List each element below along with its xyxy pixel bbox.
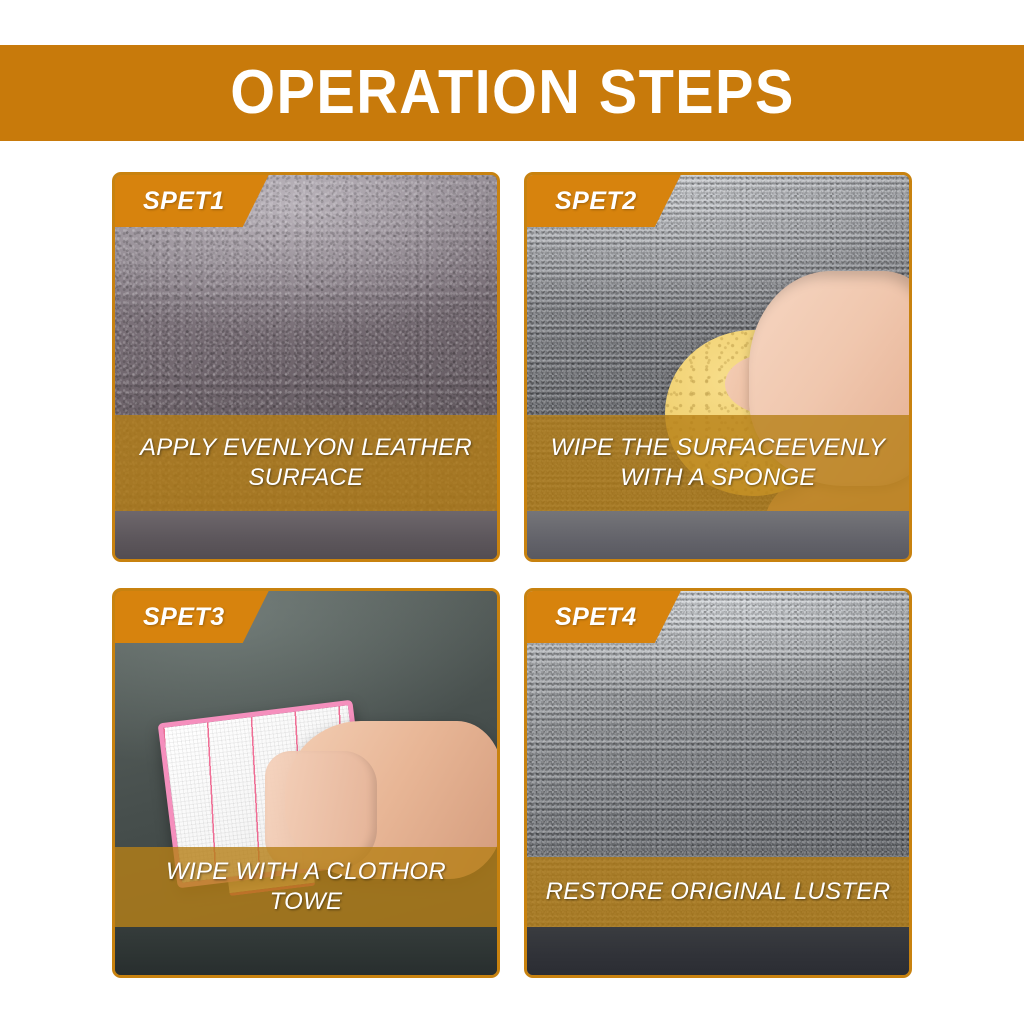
caption-band-1: APPLY EVENLYON LEATHER SURFACE: [115, 415, 497, 511]
step-badge-4: SPET4: [527, 591, 681, 643]
step-card-1: SPET1 APPLY EVENLYON LEATHER SURFACE: [112, 172, 500, 562]
step-card-4: SPET4 RESTORE ORIGINAL LUSTER: [524, 588, 912, 978]
step-badge-label: SPET4: [555, 603, 637, 632]
photo-bottom-strip: [115, 511, 497, 559]
step-badge-label: SPET2: [555, 187, 637, 216]
page-title: OPERATION STEPS: [230, 62, 795, 124]
step-card-2: SPET2 WIPE THE SURFACEEVENLY WITH A SPON…: [524, 172, 912, 562]
step-badge-3: SPET3: [115, 591, 269, 643]
operation-steps-infographic: OPERATION STEPS SPET1 APPLY EVENLYON LEA…: [0, 0, 1024, 1024]
photo-bottom-strip: [115, 927, 497, 975]
caption-text: WIPE WITH A CLOTHOR TOWE: [129, 857, 483, 917]
step-card-3: SPET3 WIPE WITH A CLOTHOR TOWE: [112, 588, 500, 978]
step-badge-label: SPET3: [143, 603, 225, 632]
step-badge-1: SPET1: [115, 175, 269, 227]
caption-band-4: RESTORE ORIGINAL LUSTER: [527, 857, 909, 927]
caption-band-3: WIPE WITH A CLOTHOR TOWE: [115, 847, 497, 927]
caption-text: APPLY EVENLYON LEATHER SURFACE: [140, 433, 472, 493]
step-badge-label: SPET1: [143, 187, 225, 216]
caption-text: WIPE THE SURFACEEVENLY WITH A SPONGE: [551, 433, 886, 493]
caption-text: RESTORE ORIGINAL LUSTER: [546, 877, 891, 907]
caption-band-2: WIPE THE SURFACEEVENLY WITH A SPONGE: [527, 415, 909, 511]
photo-bottom-strip: [527, 927, 909, 975]
step-badge-2: SPET2: [527, 175, 681, 227]
header-banner: OPERATION STEPS: [0, 45, 1024, 141]
photo-bottom-strip: [527, 511, 909, 559]
